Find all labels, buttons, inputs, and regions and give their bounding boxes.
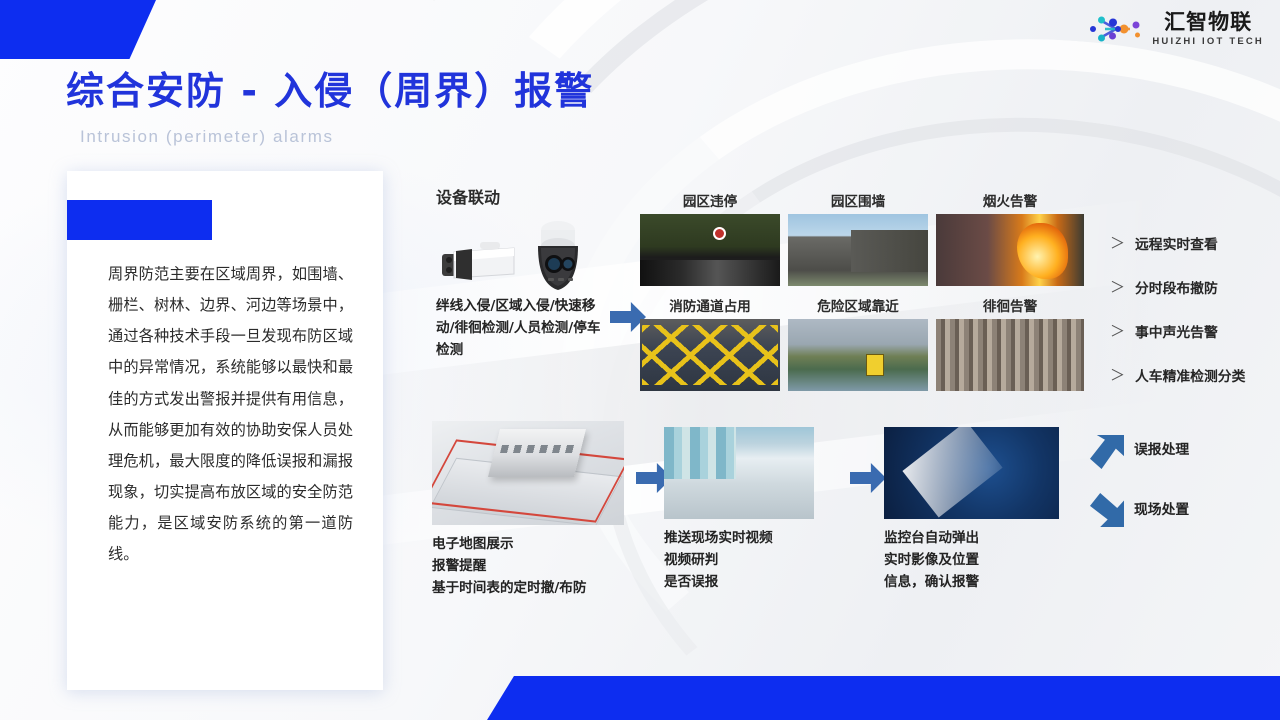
chevron-right-icon: ＞ (1110, 232, 1124, 253)
bullet-label: 远程实时查看 (1135, 233, 1218, 253)
arrow-up-right-icon (1090, 435, 1124, 469)
flow-step-caption: 监控台自动弹出 实时影像及位置 信息，确认报警 (884, 527, 1059, 593)
bullet-item: ＞ 分时段布撤防 (1110, 276, 1245, 297)
flow-caption-line: 电子地图展示 (432, 533, 624, 555)
grid-cell: 烟火告警 (936, 190, 1084, 286)
grid-cell-photo (936, 319, 1084, 391)
flow-caption-line: 视频研判 (664, 549, 814, 571)
camera-caption: 绊线入侵/区域入侵/快速移动/徘徊检测/人员检测/停车检测 (436, 295, 606, 361)
grid-cell-photo (640, 214, 780, 286)
flow-caption-line: 基于时间表的定时撤/布防 (432, 577, 624, 599)
grid-cell-label: 徘徊告警 (936, 295, 1084, 315)
description-text: 周界防范主要在区域周界，如围墙、栅栏、树林、边界、河边等场景中，通过各种技术手段… (108, 259, 353, 571)
description-card: 周界防范主要在区域周界，如围墙、栅栏、树林、边界、河边等场景中，通过各种技术手段… (67, 171, 383, 690)
chevron-right-icon: ＞ (1110, 364, 1124, 385)
flow-caption-line: 报警提醒 (432, 555, 624, 577)
flow-step-caption: 推送现场实时视频 视频研判 是否误报 (664, 527, 814, 593)
grid-cell-photo (788, 319, 928, 391)
arrow-down-right-icon (1090, 493, 1124, 527)
chevron-right-icon: ＞ (1110, 320, 1124, 341)
network-nodes-icon (1090, 12, 1145, 46)
feature-bullet-list: ＞ 远程实时查看 ＞ 分时段布撤防 ＞ 事中声光告警 ＞ 人车精准检测分类 (1110, 232, 1245, 408)
flow-step-photo (884, 427, 1059, 519)
section-title-device-linkage: 设备联动 (436, 184, 500, 208)
grid-cell: 徘徊告警 (936, 295, 1084, 391)
flow-step-map: 电子地图展示 报警提醒 基于时间表的定时撤/布防 (432, 421, 624, 599)
flow-step-photo (664, 427, 814, 519)
flow-caption-line: 监控台自动弹出 (884, 527, 1059, 549)
grid-cell-label: 园区围墙 (788, 190, 928, 210)
grid-cell: 园区围墙 (788, 190, 928, 286)
bullet-label: 事中声光告警 (1135, 321, 1218, 341)
outcome-label-onsite: 现场处置 (1134, 499, 1189, 521)
bullet-label: 分时段布撤防 (1135, 277, 1218, 297)
logo-name-cn: 汇智物联 (1164, 12, 1252, 33)
grid-cell: 消防通道占用 (640, 295, 780, 391)
arrow-right-icon-3 (850, 463, 886, 493)
outcome-label-false-alarm: 误报处理 (1134, 439, 1189, 461)
slide-canvas: 汇智物联 HUIZHI IOT TECH 综合安防 - 入侵（周界）报警 Int… (0, 0, 1280, 720)
flow-step-video: 推送现场实时视频 视频研判 是否误报 (664, 427, 814, 593)
grid-cell-label: 危险区域靠近 (788, 295, 928, 315)
card-badge-label (67, 200, 212, 210)
diagram-area: 设备联动 (410, 176, 1280, 646)
bullet-label: 人车精准检测分类 (1135, 365, 1245, 385)
grid-cell-label: 消防通道占用 (640, 295, 780, 315)
flow-caption-line: 推送现场实时视频 (664, 527, 814, 549)
logo-text: 汇智物联 HUIZHI IOT TECH (1152, 12, 1264, 47)
top-left-corner-shape (0, 0, 156, 59)
card-badge (67, 200, 212, 240)
flow-caption-line: 是否误报 (664, 571, 814, 593)
chevron-right-icon: ＞ (1110, 276, 1124, 297)
response-flow: 电子地图展示 报警提醒 基于时间表的定时撤/布防 推送现场实时视频 视频研判 是… (418, 421, 1280, 636)
grid-cell: 危险区域靠近 (788, 295, 928, 391)
brand-logo: 汇智物联 HUIZHI IOT TECH (1090, 12, 1264, 47)
flow-caption-line: 信息，确认报警 (884, 571, 1059, 593)
flow-step-photo (432, 421, 624, 525)
grid-cell-photo (640, 319, 780, 391)
flow-step-alert: 监控台自动弹出 实时影像及位置 信息，确认报警 (884, 427, 1059, 593)
flow-caption-line: 实时影像及位置 (884, 549, 1059, 571)
grid-cell: 园区违停 (640, 190, 780, 286)
bullet-item: ＞ 远程实时查看 (1110, 232, 1245, 253)
scenario-image-grid: 园区违停 园区围墙 烟火告警 消防通道占用 危险区域靠近 徘徊告警 (640, 190, 1080, 385)
page-title: 综合安防 - 入侵（周界）报警 (66, 60, 594, 115)
page-subtitle: Intrusion (perimeter) alarms (80, 127, 334, 147)
bottom-right-corner-shape (487, 676, 1280, 720)
logo-name-en: HUIZHI IOT TECH (1152, 37, 1264, 47)
grid-cell-label: 园区违停 (640, 190, 780, 210)
bullet-item: ＞ 人车精准检测分类 (1110, 364, 1245, 385)
map-building (488, 429, 586, 477)
grid-cell-photo (936, 214, 1084, 286)
grid-cell-photo (788, 214, 928, 286)
bullet-item: ＞ 事中声光告警 (1110, 320, 1245, 341)
flow-step-caption: 电子地图展示 报警提醒 基于时间表的定时撤/布防 (432, 533, 624, 599)
grid-cell-label: 烟火告警 (936, 190, 1084, 210)
